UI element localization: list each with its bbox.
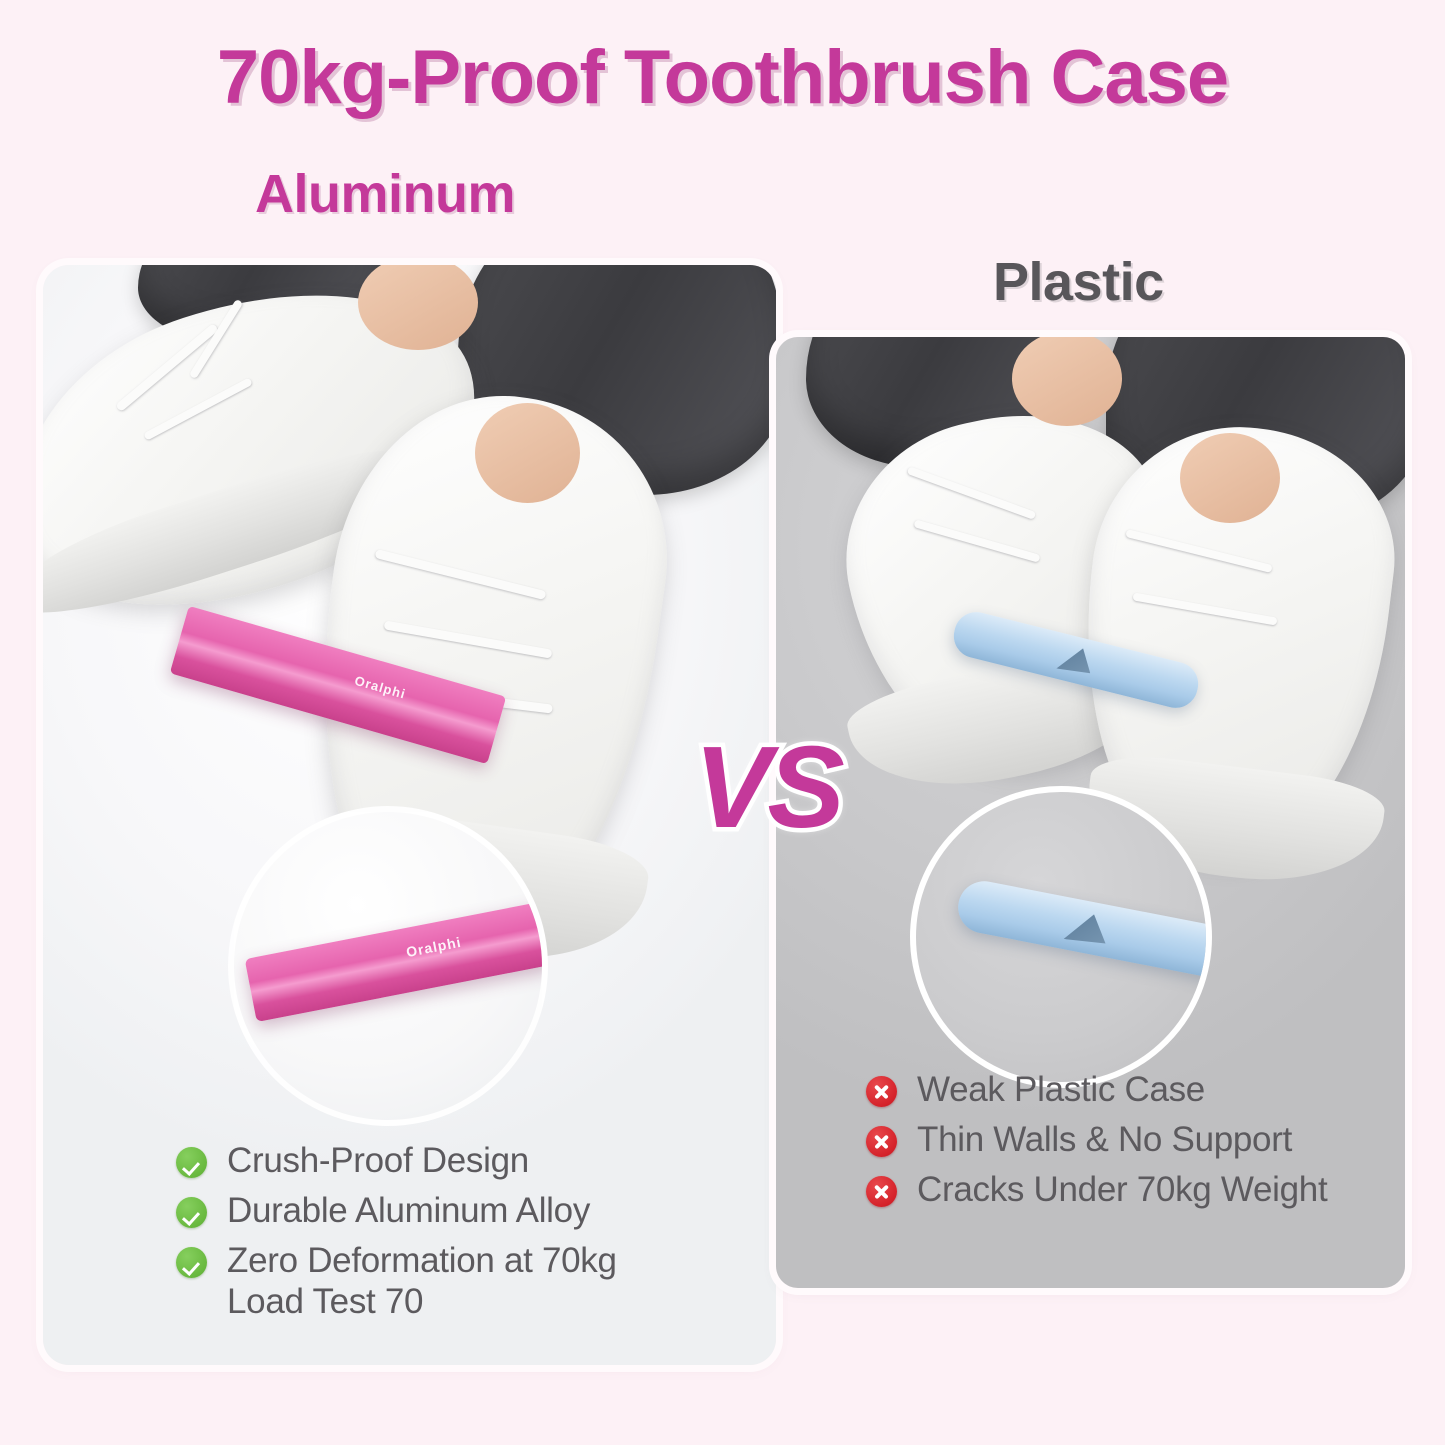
aluminum-case-closeup: Oralphi xyxy=(245,902,548,1022)
cross-circle-icon xyxy=(866,1126,897,1157)
feature-label: Thin Walls & No Support xyxy=(917,1120,1292,1161)
section-label-aluminum: Aluminum xyxy=(255,163,515,225)
ankle-right xyxy=(475,403,580,503)
plastic-feature-list: Weak Plastic Case Thin Walls & No Suppor… xyxy=(866,1070,1366,1220)
page-title: 70kg-Proof Toothbrush Case xyxy=(0,34,1445,121)
product-brand-label-inset: Oralphi xyxy=(405,934,463,960)
feature-label: Durable Aluminum Alloy xyxy=(227,1191,590,1232)
list-item: Thin Walls & No Support xyxy=(866,1120,1366,1161)
aluminum-feature-list: Crush-Proof Design Durable Aluminum Allo… xyxy=(176,1141,696,1332)
list-item: Crush-Proof Design xyxy=(176,1141,696,1182)
plastic-case-closeup xyxy=(954,877,1212,983)
section-label-plastic: Plastic xyxy=(993,251,1164,313)
list-item: Zero Deformation at 70kg Load Test 70 xyxy=(176,1241,696,1323)
cross-circle-icon xyxy=(866,1076,897,1107)
feature-label: Weak Plastic Case xyxy=(917,1070,1205,1111)
feature-label: Cracks Under 70kg Weight xyxy=(917,1170,1327,1211)
check-circle-icon xyxy=(176,1147,207,1178)
check-circle-icon xyxy=(176,1197,207,1228)
plastic-case-inset xyxy=(910,786,1212,1088)
feature-label: Zero Deformation at 70kg Load Test 70 xyxy=(227,1241,696,1323)
product-brand-label: Oralphi xyxy=(353,673,408,702)
list-item: Durable Aluminum Alloy xyxy=(176,1191,696,1232)
list-item: Cracks Under 70kg Weight xyxy=(866,1170,1366,1211)
crack-photo xyxy=(1056,643,1095,676)
cross-circle-icon xyxy=(866,1176,897,1207)
crack-closeup xyxy=(1064,910,1111,947)
check-circle-icon xyxy=(176,1247,207,1278)
aluminum-case-inset: Oralphi xyxy=(228,806,548,1126)
vs-badge: VS xyxy=(694,729,841,845)
ankle-right-plastic xyxy=(1180,433,1280,523)
feature-label: Crush-Proof Design xyxy=(227,1141,529,1182)
list-item: Weak Plastic Case xyxy=(866,1070,1366,1111)
